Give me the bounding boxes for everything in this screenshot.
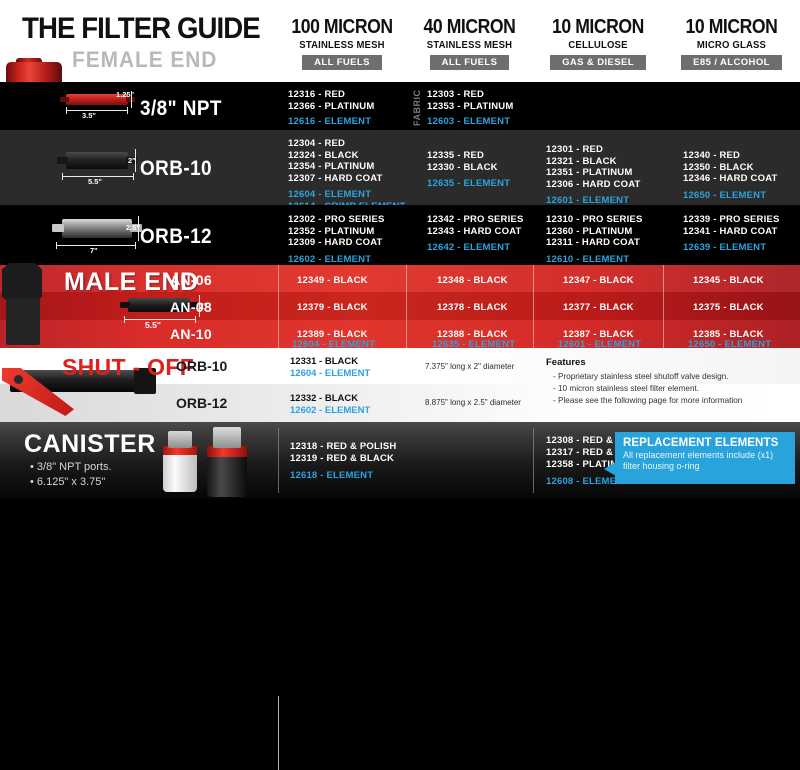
- part-number: 12319 - RED & BLACK: [290, 453, 396, 465]
- column-header-title: 40 MICRON: [414, 16, 526, 39]
- part-cell: 12301 - RED 12321 - BLACK 12351 - PLATIN…: [546, 144, 641, 207]
- part-number: 12306 - HARD COAT: [546, 179, 641, 191]
- element-number: 12603 - ELEMENT: [427, 116, 513, 128]
- an-fitting-body-art: [6, 299, 40, 345]
- an-fitting-art: [2, 263, 42, 303]
- part-number: 12348 - BLACK: [437, 275, 508, 286]
- callout-title: REPLACEMENT ELEMENTS: [615, 432, 795, 449]
- part-cell: 12332 - BLACK 12602 - ELEMENT: [290, 393, 370, 416]
- dimension-tick: [124, 316, 125, 323]
- canister-bracket: [168, 431, 192, 448]
- part-number: 12339 - PRO SERIES: [683, 214, 780, 226]
- filter-guide-page: THE FILTER GUIDE FEMALE END 100 MICRON S…: [0, 0, 800, 499]
- part-number: 12341 - HARD COAT: [683, 226, 780, 238]
- page-header: THE FILTER GUIDE FEMALE END 100 MICRON S…: [0, 0, 800, 82]
- column-divider: [278, 265, 279, 348]
- features-title: Features: [546, 357, 586, 368]
- part-number: 12331 - BLACK: [290, 356, 370, 368]
- page-subtitle: FEMALE END: [72, 47, 217, 73]
- canister-art-black: [207, 452, 247, 497]
- filter-end-left: [52, 224, 64, 232]
- part-number: 12351 - PLATINUM: [546, 167, 641, 179]
- element-number: 12618 - ELEMENT: [290, 470, 396, 482]
- element-number: 12604 - ELEMENT: [288, 189, 406, 201]
- part-number: 12340 - RED: [683, 150, 778, 162]
- dimension-length-label: 3.5": [82, 111, 96, 120]
- male-size-label-an-08: AN-08: [170, 299, 212, 315]
- column-header-tag: E85 / ALCOHOL: [681, 55, 782, 70]
- feature-item: - Please see the following page for more…: [553, 395, 742, 406]
- part-number: 12360 - PLATINUM: [546, 226, 643, 238]
- filter-photo-black: [66, 152, 128, 169]
- part-number: 12353 - PLATINUM: [427, 101, 513, 113]
- column-divider: [278, 428, 279, 493]
- row-label-orb-12: ORB-12: [140, 225, 257, 249]
- part-cell: 12339 - PRO SERIES 12341 - HARD COAT 126…: [683, 214, 780, 254]
- part-number: 12366 - PLATINUM: [288, 101, 374, 113]
- part-number: 12307 - HARD COAT: [288, 173, 406, 185]
- part-number: 12346 - HARD COAT: [683, 173, 778, 185]
- dimension-line: [66, 110, 128, 111]
- column-header-tag: GAS & DIESEL: [550, 55, 646, 70]
- column-header-media: STAINLESS MESH: [281, 40, 403, 51]
- element-number: 12602 - ELEMENT: [290, 405, 370, 417]
- male-size-label-an-10: AN-10: [170, 326, 212, 342]
- part-cell: 12340 - RED 12350 - BLACK 12346 - HARD C…: [683, 150, 778, 201]
- dimension-tick: [66, 107, 67, 114]
- column-header-10-micron-cellulose: 10 MICRON CELLULOSE GAS & DIESEL: [533, 16, 663, 70]
- part-number: 12321 - BLACK: [546, 156, 641, 168]
- part-number: 12352 - PLATINUM: [288, 226, 385, 238]
- column-header-100-micron: 100 MICRON STAINLESS MESH ALL FUELS: [278, 16, 406, 70]
- element-number: 12650 - ELEMENT: [683, 190, 778, 202]
- table-row: 7" 2.5" ORB-12 12302 - PRO SERIES 12352 …: [0, 205, 800, 265]
- part-number: 12304 - RED: [288, 138, 406, 150]
- element-number: 12642 - ELEMENT: [427, 242, 524, 254]
- part-number: 12324 - BLACK: [288, 150, 406, 162]
- filter-end-left: [60, 97, 69, 102]
- page-title: THE FILTER GUIDE: [22, 12, 260, 46]
- part-number: 12332 - BLACK: [290, 393, 370, 405]
- part-number: 12311 - HARD COAT: [546, 237, 643, 249]
- dimension-length-label: 5.5": [145, 320, 161, 330]
- part-number: 12301 - RED: [546, 144, 641, 156]
- part-number: 12379 - BLACK: [297, 302, 368, 313]
- element-number: 12635 - ELEMENT: [427, 178, 510, 190]
- part-number: 12378 - BLACK: [437, 302, 508, 313]
- dimension-tick: [127, 107, 128, 114]
- filter-end-left: [120, 302, 130, 308]
- part-number: 12349 - BLACK: [297, 275, 368, 286]
- element-number: 12602 - ELEMENT: [288, 254, 385, 266]
- feature-item: - 10 micron stainless steel filter eleme…: [553, 383, 699, 394]
- canister-title: CANISTER: [24, 430, 156, 459]
- column-header-tag: ALL FUELS: [302, 55, 382, 70]
- shutoff-dimension: 8.875" long x 2.5" diameter: [425, 398, 521, 407]
- canister-bracket: [213, 427, 241, 448]
- element-number: 12604 - ELEMENT: [290, 368, 370, 380]
- dimension-tick: [135, 242, 136, 249]
- part-number: 12309 - HARD COAT: [288, 237, 385, 249]
- fabric-note: FABRIC: [412, 88, 422, 126]
- feature-item: - Proprietary stainless steel shutoff va…: [553, 371, 729, 382]
- element-number: 12616 - ELEMENT: [288, 116, 374, 128]
- shutoff-title: SHUT - OFF: [62, 354, 194, 381]
- part-number: 12316 - RED: [288, 89, 374, 101]
- dimension-diameter-label: 2.5": [126, 223, 140, 232]
- shutoff-row-label-orb-12: ORB-12: [176, 395, 227, 411]
- shutoff-dimension: 7.375" long x 2" diameter: [425, 362, 514, 371]
- column-header-40-micron: 40 MICRON STAINLESS MESH ALL FUELS: [406, 16, 533, 70]
- part-number: 12318 - RED & POLISH: [290, 441, 396, 453]
- dimension-length-label: 7": [90, 246, 98, 255]
- part-cell: 12310 - PRO SERIES 12360 - PLATINUM 1231…: [546, 214, 643, 265]
- column-divider: [533, 265, 534, 348]
- part-number: 12345 - BLACK: [693, 275, 764, 286]
- row-label-orb-10: ORB-10: [140, 157, 257, 181]
- part-number: 12377 - BLACK: [563, 302, 634, 313]
- lever-pivot: [14, 375, 23, 384]
- element-number: 12610 - ELEMENT: [546, 254, 643, 266]
- part-cell: 12331 - BLACK 12604 - ELEMENT: [290, 356, 370, 379]
- part-number: 12375 - BLACK: [693, 302, 764, 313]
- part-cell: 12316 - RED 12366 - PLATINUM 12616 - ELE…: [288, 89, 374, 128]
- male-stripe: [0, 320, 800, 348]
- part-number: 12303 - RED: [427, 89, 513, 101]
- column-header-media: CELLULOSE: [536, 40, 660, 51]
- replacement-elements-callout: REPLACEMENT ELEMENTS All replacement ele…: [615, 432, 795, 484]
- part-number: 12302 - PRO SERIES: [288, 214, 385, 226]
- shutoff-row-label-orb-10: ORB-10: [176, 358, 227, 374]
- shutoff-section: SHUT - OFF ORB-10 ORB-12 12331 - BLACK 1…: [0, 348, 800, 422]
- dimension-tick: [56, 242, 57, 249]
- column-header-title: 10 MICRON: [671, 16, 792, 39]
- part-number: 12350 - BLACK: [683, 162, 778, 174]
- table-row: 5.5" 2" ORB-10 12304 - RED 12324 - BLACK…: [0, 130, 800, 205]
- column-header-media: STAINLESS MESH: [409, 40, 530, 51]
- male-end-section: 5.5" 2" MALE END AN-06 AN-08 AN-10 12349…: [0, 265, 800, 348]
- column-divider: [663, 265, 664, 348]
- table-row: 3.5" 1.25" 3/8" NPT FABRIC 12316 - RED 1…: [0, 82, 800, 130]
- column-header-title: 100 MICRON: [286, 16, 399, 39]
- dimension-length-label: 5.5": [88, 177, 102, 186]
- part-cell: 12304 - RED 12324 - BLACK 12354 - PLATIN…: [288, 138, 406, 213]
- column-header-tag: ALL FUELS: [430, 55, 510, 70]
- canister-bullet: • 6.125" x 3.75": [30, 476, 105, 488]
- column-divider: [406, 265, 407, 348]
- part-number: 12347 - BLACK: [563, 275, 634, 286]
- part-cell: 12302 - PRO SERIES 12352 - PLATINUM 1230…: [288, 214, 385, 265]
- dimension-tick: [62, 173, 63, 180]
- element-number: 12639 - ELEMENT: [683, 242, 780, 254]
- part-number: 12343 - HARD COAT: [427, 226, 524, 238]
- part-cell: 12318 - RED & POLISH 12319 - RED & BLACK…: [290, 441, 396, 482]
- canister-art-polish: [163, 450, 197, 492]
- row-label-npt: 3/8" NPT: [140, 97, 257, 121]
- dimension-tick: [133, 173, 134, 180]
- part-number: 12310 - PRO SERIES: [546, 214, 643, 226]
- dimension-diameter-label: 1.25": [116, 90, 134, 99]
- male-size-label-an-06: AN-06: [170, 272, 212, 288]
- part-number: 12342 - PRO SERIES: [427, 214, 524, 226]
- dimension-tick: [195, 316, 196, 323]
- column-divider: [533, 428, 534, 493]
- filter-photo-silver: [62, 219, 132, 238]
- part-cell: 12335 - RED 12330 - BLACK 12635 - ELEMEN…: [427, 150, 510, 190]
- column-header-media: MICRO GLASS: [666, 40, 796, 51]
- part-number: 12330 - BLACK: [427, 162, 510, 174]
- part-cell: 12303 - RED 12353 - PLATINUM 12603 - ELE…: [427, 89, 513, 128]
- column-header-10-micron-micro-glass: 10 MICRON MICRO GLASS E85 / ALCOHOL: [663, 16, 800, 70]
- filter-end-left: [57, 157, 68, 164]
- part-number: 12354 - PLATINUM: [288, 161, 406, 173]
- part-cell: 12342 - PRO SERIES 12343 - HARD COAT 126…: [427, 214, 524, 254]
- callout-body: All replacement elements include (x1) fi…: [615, 449, 795, 472]
- column-header-title: 10 MICRON: [541, 16, 655, 39]
- part-number: 12335 - RED: [427, 150, 510, 162]
- column-divider: [278, 696, 279, 770]
- dimension-diameter-label: 2": [128, 156, 136, 165]
- canister-bullet: • 3/8" NPT ports.: [30, 461, 112, 473]
- female-end-table: 3.5" 1.25" 3/8" NPT FABRIC 12316 - RED 1…: [0, 82, 800, 265]
